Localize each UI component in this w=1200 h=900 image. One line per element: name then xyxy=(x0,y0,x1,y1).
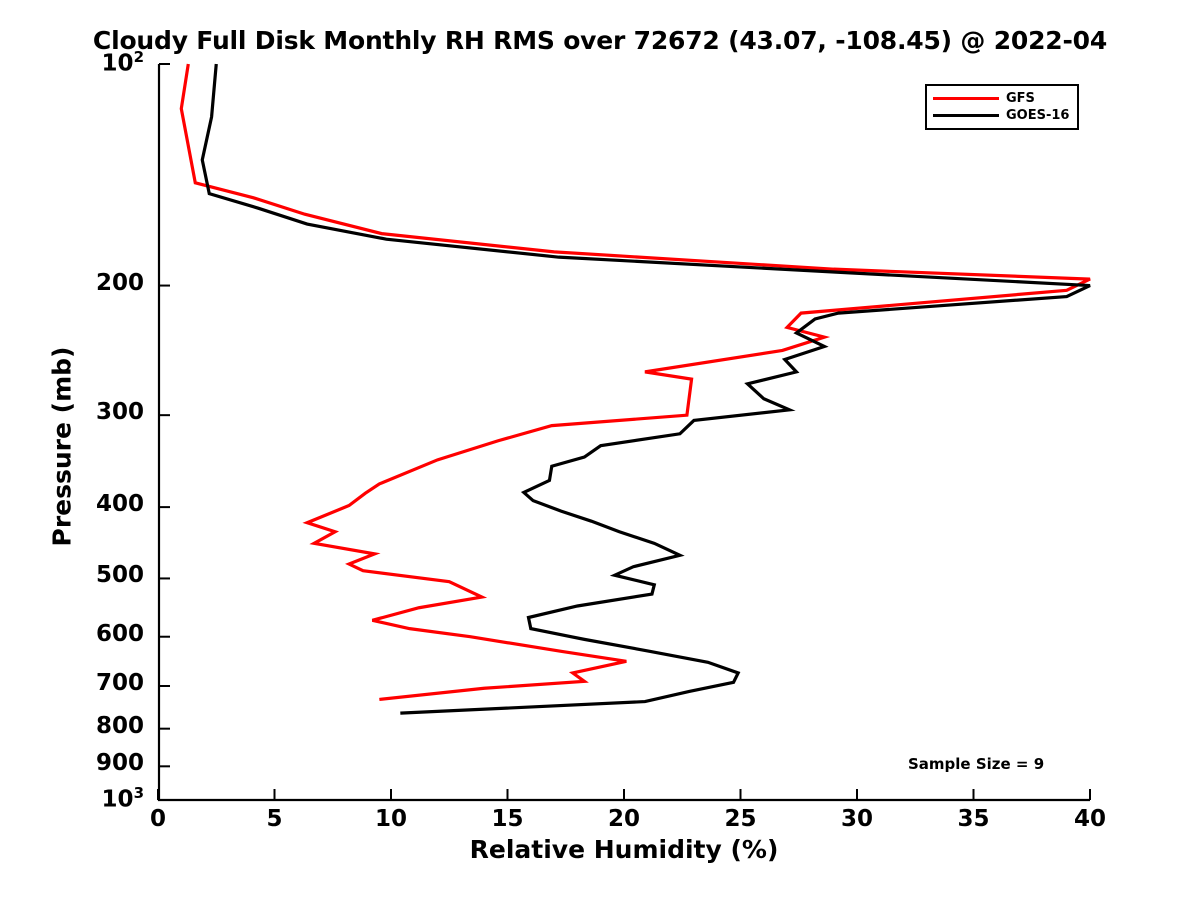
axis-ticks xyxy=(158,64,1090,800)
x-tick-label: 15 xyxy=(468,806,548,832)
sample-size-annotation: Sample Size = 9 xyxy=(908,755,1044,773)
legend-label: GOES-16 xyxy=(1006,108,1069,123)
legend: GFSGOES-16 xyxy=(925,84,1079,130)
legend-color-swatch xyxy=(933,97,999,100)
legend-label: GFS xyxy=(1006,91,1035,106)
page-title: Cloudy Full Disk Monthly RH RMS over 726… xyxy=(0,26,1200,55)
y-tick-label: 103 xyxy=(34,784,144,813)
x-tick-label: 20 xyxy=(584,806,664,832)
y-tick-label: 102 xyxy=(34,48,144,77)
x-tick-label: 25 xyxy=(701,806,781,832)
y-tick-label: 800 xyxy=(34,713,144,739)
x-tick-label: 5 xyxy=(235,806,315,832)
x-axis-title: Relative Humidity (%) xyxy=(158,835,1090,864)
series-line-goes-16 xyxy=(202,64,1090,713)
legend-entry[interactable]: GOES-16 xyxy=(933,107,1069,124)
series-line-gfs xyxy=(181,64,1090,699)
legend-entry[interactable]: GFS xyxy=(933,90,1069,107)
legend-color-swatch xyxy=(933,114,999,117)
plot-area xyxy=(158,64,1090,800)
data-series-group xyxy=(181,64,1090,713)
x-tick-label: 35 xyxy=(934,806,1014,832)
y-tick-label: 900 xyxy=(34,750,144,776)
figure-canvas: Cloudy Full Disk Monthly RH RMS over 726… xyxy=(0,0,1200,900)
plot-svg xyxy=(158,64,1090,800)
axis-frame xyxy=(159,64,1090,800)
x-tick-label: 10 xyxy=(351,806,431,832)
x-tick-label: 30 xyxy=(817,806,897,832)
y-axis-title: Pressure (mb) xyxy=(48,217,77,677)
x-tick-label: 40 xyxy=(1050,806,1130,832)
